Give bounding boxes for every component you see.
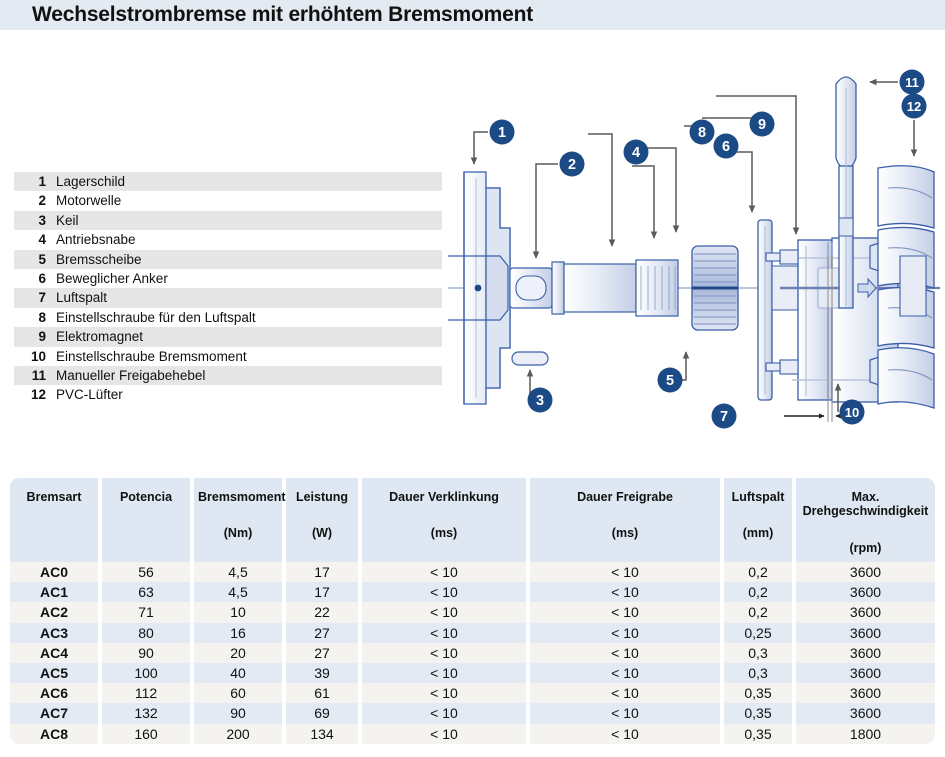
callout-marker-6: 6 (714, 134, 739, 159)
cell-verklinkung: < 10 (362, 643, 530, 663)
callout-marker-3: 3 (528, 388, 553, 413)
cell-luftspalt: 0,3 (724, 663, 796, 683)
legend-item-number: 7 (22, 290, 46, 305)
cell-freigrabe: < 10 (530, 582, 724, 602)
table-row: AC61126061< 10< 100,353600 (10, 683, 935, 703)
column-header-unit: (ms) (534, 526, 716, 540)
cell-bremsmoment: 90 (194, 703, 286, 723)
column-header: Leistung(W) (286, 478, 362, 562)
callout-number: 11 (905, 75, 919, 90)
column-header-name: Max. Drehgeschwindigkeit (800, 490, 931, 519)
callout-marker-5: 5 (658, 368, 683, 393)
legend-item: 11Manueller Freigabehebel (14, 366, 442, 385)
legend-item-label: Einstellschraube für den Luftspalt (56, 310, 256, 325)
cell-verklinkung: < 10 (362, 562, 530, 582)
column-header: Dauer Freigrabe(ms) (530, 478, 724, 562)
cell-freigrabe: < 10 (530, 724, 724, 744)
callout-marker-12: 12 (902, 94, 927, 119)
cell-potencia: 112 (102, 683, 194, 703)
cell-bremsmoment: 4,5 (194, 562, 286, 582)
cell-freigrabe: < 10 (530, 703, 724, 723)
legend-item: 5Bremsscheibe (14, 250, 442, 269)
cell-bremsmoment: 200 (194, 724, 286, 744)
legend-item-label: Manueller Freigabehebel (56, 368, 205, 383)
brake-assembly-diagram: 123456789101112 (440, 60, 945, 445)
callout-marker-1: 1 (490, 120, 515, 145)
legend-item-number: 1 (22, 174, 46, 189)
column-header: Max. Drehgeschwindigkeit(rpm) (796, 478, 935, 562)
column-header: Dauer Verklinkung(ms) (362, 478, 530, 562)
callout-number: 6 (722, 139, 730, 155)
cell-brake: AC8 (10, 724, 102, 744)
cell-verklinkung: < 10 (362, 683, 530, 703)
table-row: AC8160200134< 10< 100,351800 (10, 724, 935, 744)
table-body: AC0564,517< 10< 100,23600AC1634,517< 10<… (10, 562, 935, 744)
cell-luftspalt: 0,2 (724, 562, 796, 582)
legend-item-number: 4 (22, 232, 46, 247)
cell-verklinkung: < 10 (362, 623, 530, 643)
callout-number: 4 (632, 145, 640, 161)
column-header-name: Leistung (290, 490, 354, 504)
column-header-name: Luftspalt (728, 490, 788, 504)
legend-item: 4Antriebsnabe (14, 230, 442, 249)
cell-bremsmoment: 16 (194, 623, 286, 643)
legend-item-number: 2 (22, 193, 46, 208)
table-row: AC71329069< 10< 100,353600 (10, 703, 935, 723)
column-header-name: Bremsart (14, 490, 94, 504)
callout-marker-4: 4 (624, 140, 649, 165)
legend-item-number: 6 (22, 271, 46, 286)
cell-brake: AC5 (10, 663, 102, 683)
cell-potencia: 160 (102, 724, 194, 744)
cell-rpm: 3600 (796, 663, 935, 683)
cell-leistung: 17 (286, 582, 362, 602)
cell-potencia: 100 (102, 663, 194, 683)
table-head: BremsartPotenciaBremsmoment(Nm)Leistung(… (10, 478, 935, 562)
cell-potencia: 56 (102, 562, 194, 582)
cell-potencia: 63 (102, 582, 194, 602)
cell-rpm: 3600 (796, 562, 935, 582)
column-header-unit: (mm) (728, 526, 788, 540)
cell-potencia: 80 (102, 623, 194, 643)
column-header-name: Dauer Freigrabe (534, 490, 716, 504)
cell-luftspalt: 0,35 (724, 683, 796, 703)
table-header-row: BremsartPotenciaBremsmoment(Nm)Leistung(… (10, 478, 935, 562)
cell-luftspalt: 0,35 (724, 703, 796, 723)
cell-brake: AC4 (10, 643, 102, 663)
callout-marker-10: 10 (840, 400, 865, 425)
cell-freigrabe: < 10 (530, 602, 724, 622)
legend-item-number: 9 (22, 329, 46, 344)
legend-item: 8Einstellschraube für den Luftspalt (14, 308, 442, 327)
legend-item-label: PVC-Lüfter (56, 387, 123, 402)
cell-verklinkung: < 10 (362, 602, 530, 622)
column-header-name: Potencia (106, 490, 186, 504)
column-header-unit: (Nm) (198, 526, 278, 540)
column-header-name: Dauer Verklinkung (366, 490, 522, 504)
cell-bremsmoment: 20 (194, 643, 286, 663)
cell-leistung: 27 (286, 643, 362, 663)
table-row: AC3801627< 10< 100,253600 (10, 623, 935, 643)
legend-item-number: 11 (22, 368, 46, 383)
legend-item: 6Beweglicher Anker (14, 269, 442, 288)
cell-leistung: 39 (286, 663, 362, 683)
table-row: AC51004039< 10< 100,33600 (10, 663, 935, 683)
cell-luftspalt: 0,3 (724, 643, 796, 663)
callout-marker-11: 11 (900, 70, 925, 95)
cell-freigrabe: < 10 (530, 663, 724, 683)
cell-brake: AC2 (10, 602, 102, 622)
legend-item-label: Lagerschild (56, 174, 125, 189)
cell-brake: AC7 (10, 703, 102, 723)
cell-verklinkung: < 10 (362, 582, 530, 602)
legend-item-label: Elektromagnet (56, 329, 143, 344)
cell-freigrabe: < 10 (530, 562, 724, 582)
column-header: Bremsart (10, 478, 102, 562)
legend-item-number: 3 (22, 213, 46, 228)
column-header-unit: (W) (290, 526, 354, 540)
legend-item-label: Luftspalt (56, 290, 107, 305)
cell-brake: AC0 (10, 562, 102, 582)
column-header-unit: (ms) (366, 526, 522, 540)
cell-brake: AC6 (10, 683, 102, 703)
cell-freigrabe: < 10 (530, 623, 724, 643)
cell-rpm: 3600 (796, 582, 935, 602)
cell-rpm: 3600 (796, 703, 935, 723)
column-header: Bremsmoment(Nm) (194, 478, 286, 562)
legend-item: 10Einstellschraube Bremsmoment (14, 347, 442, 366)
page-title: Wechselstrombremse mit erhöhtem Bremsmom… (32, 3, 533, 27)
legend-item-label: Keil (56, 213, 79, 228)
cell-freigrabe: < 10 (530, 683, 724, 703)
cell-luftspalt: 0,25 (724, 623, 796, 643)
callout-marker-8: 8 (690, 120, 715, 145)
callout-number: 3 (536, 393, 544, 409)
column-header: Luftspalt(mm) (724, 478, 796, 562)
cell-potencia: 132 (102, 703, 194, 723)
cell-rpm: 3600 (796, 623, 935, 643)
legend-item-label: Beweglicher Anker (56, 271, 168, 286)
cell-leistung: 134 (286, 724, 362, 744)
cell-leistung: 61 (286, 683, 362, 703)
callout-number: 7 (720, 409, 728, 425)
callout-number: 2 (568, 157, 576, 173)
cell-potencia: 71 (102, 602, 194, 622)
legend-item-label: Einstellschraube Bremsmoment (56, 349, 247, 364)
legend-item-number: 10 (22, 349, 46, 364)
legend-item-label: Bremsscheibe (56, 252, 142, 267)
callout-number: 5 (666, 373, 674, 389)
cell-luftspalt: 0,35 (724, 724, 796, 744)
cell-bremsmoment: 60 (194, 683, 286, 703)
cell-potencia: 90 (102, 643, 194, 663)
callout-number: 8 (698, 125, 706, 141)
legend-item: 3Keil (14, 211, 442, 230)
cell-luftspalt: 0,2 (724, 582, 796, 602)
cell-rpm: 3600 (796, 643, 935, 663)
cell-leistung: 22 (286, 602, 362, 622)
callout-number: 9 (758, 117, 766, 133)
callout-marker-9: 9 (750, 112, 775, 137)
table-row: AC1634,517< 10< 100,23600 (10, 582, 935, 602)
legend-item: 7Luftspalt (14, 288, 442, 307)
legend-item-label: Antriebsnabe (56, 232, 136, 247)
legend-item-number: 12 (22, 387, 46, 402)
specifications-table: BremsartPotenciaBremsmoment(Nm)Leistung(… (10, 478, 935, 744)
cell-freigrabe: < 10 (530, 643, 724, 663)
parts-legend: 1Lagerschild2Motorwelle3Keil4Antriebsnab… (14, 172, 442, 405)
callout-number: 1 (498, 125, 506, 141)
legend-item: 1Lagerschild (14, 172, 442, 191)
cell-verklinkung: < 10 (362, 663, 530, 683)
specifications-table-wrapper: BremsartPotenciaBremsmoment(Nm)Leistung(… (10, 478, 935, 748)
legend-item: 12PVC-Lüfter (14, 385, 442, 404)
legend-item-number: 8 (22, 310, 46, 325)
cell-luftspalt: 0,2 (724, 602, 796, 622)
cell-leistung: 27 (286, 623, 362, 643)
cell-leistung: 69 (286, 703, 362, 723)
table-row: AC4902027< 10< 100,33600 (10, 643, 935, 663)
column-header: Potencia (102, 478, 194, 562)
callout-marker-2: 2 (560, 152, 585, 177)
column-header-name: Bremsmoment (198, 490, 278, 504)
cell-rpm: 1800 (796, 724, 935, 744)
cell-rpm: 3600 (796, 683, 935, 703)
cell-leistung: 17 (286, 562, 362, 582)
legend-item: 9Elektromagnet (14, 327, 442, 346)
cell-brake: AC3 (10, 623, 102, 643)
cell-bremsmoment: 40 (194, 663, 286, 683)
legend-item-label: Motorwelle (56, 193, 121, 208)
cell-bremsmoment: 10 (194, 602, 286, 622)
callout-number: 10 (845, 405, 859, 420)
legend-item: 2Motorwelle (14, 191, 442, 210)
legend-item-number: 5 (22, 252, 46, 267)
cell-verklinkung: < 10 (362, 724, 530, 744)
cell-brake: AC1 (10, 582, 102, 602)
callout-number: 12 (907, 99, 921, 114)
table-row: AC0564,517< 10< 100,23600 (10, 562, 935, 582)
cell-rpm: 3600 (796, 602, 935, 622)
cell-bremsmoment: 4,5 (194, 582, 286, 602)
table-row: AC2711022< 10< 100,23600 (10, 602, 935, 622)
cell-verklinkung: < 10 (362, 703, 530, 723)
column-header-unit: (rpm) (800, 541, 931, 555)
callout-marker-7: 7 (712, 404, 737, 429)
